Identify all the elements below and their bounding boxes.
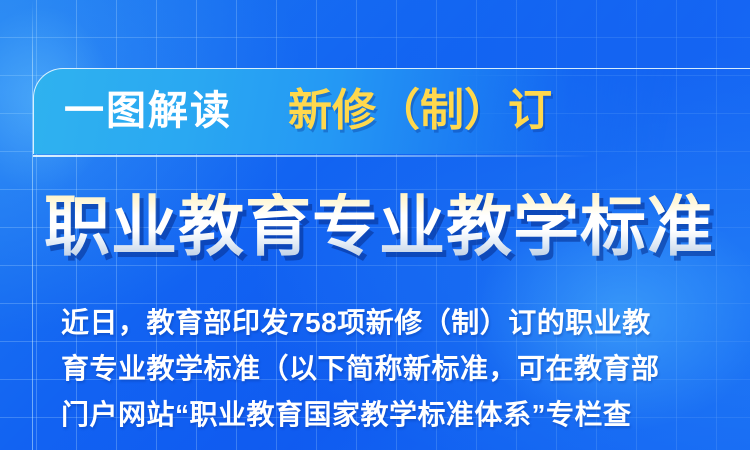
header-banner-content: 一图解读 新修（制）订 (33, 68, 750, 154)
body-line: 近日，教育部印发758项新修（制）订的职业教 (61, 300, 726, 346)
headline-kicker-label: 新修（制）订 (288, 89, 552, 133)
page-title-text: 职业教育专业教学标准 (44, 193, 730, 259)
poster-infographic-header: 一图解读 新修（制）订 职业教育专业教学标准 近日，教育部印发758项新修（制）… (0, 0, 750, 450)
infographic-tag-label: 一图解读 (64, 91, 232, 131)
body-line: 育专业教学标准（以下简称新标准，可在教育部 (61, 346, 726, 392)
body-line: 门户网站“职业教育国家教学标准体系”专栏查 (61, 392, 726, 438)
body-paragraph: 近日，教育部印发758项新修（制）订的职业教 育专业教学标准（以下简称新标准，可… (61, 300, 726, 438)
page-title: 职业教育专业教学标准 (44, 193, 730, 259)
